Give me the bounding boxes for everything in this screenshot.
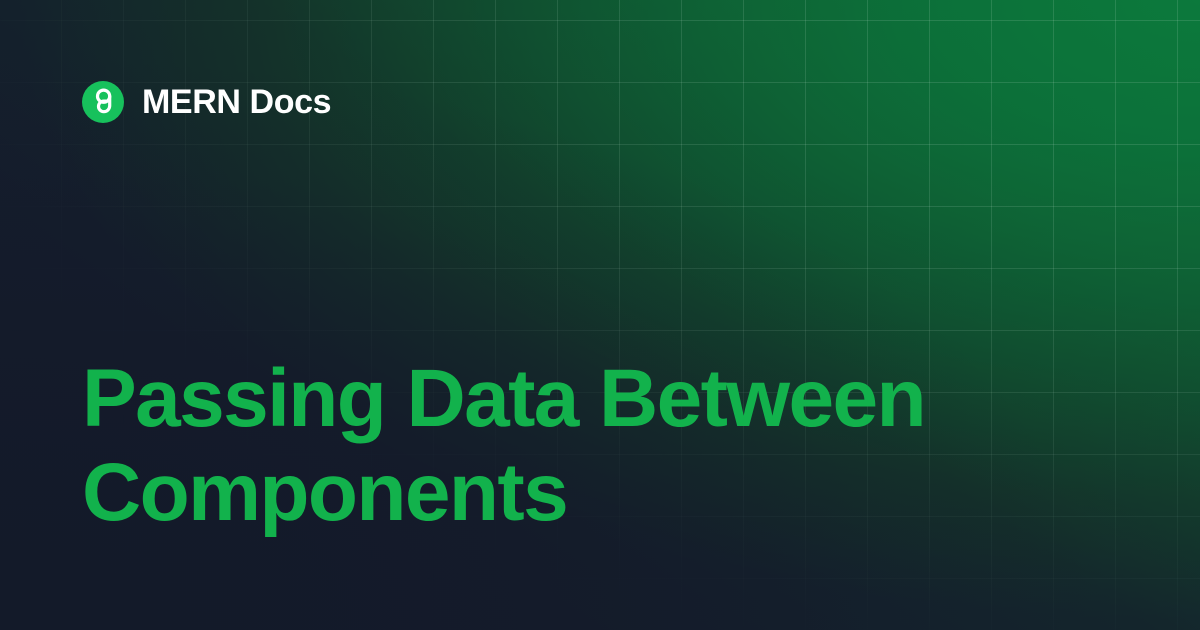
brand-logo-icon — [82, 81, 124, 123]
card-content: MERN Docs Passing Data Between Component… — [0, 0, 1200, 630]
page-title: Passing Data Between Components — [82, 352, 1122, 540]
brand-lockup: MERN Docs — [82, 76, 331, 128]
brand-name-label: MERN Docs — [142, 85, 331, 119]
og-card: MERN Docs Passing Data Between Component… — [0, 0, 1200, 630]
